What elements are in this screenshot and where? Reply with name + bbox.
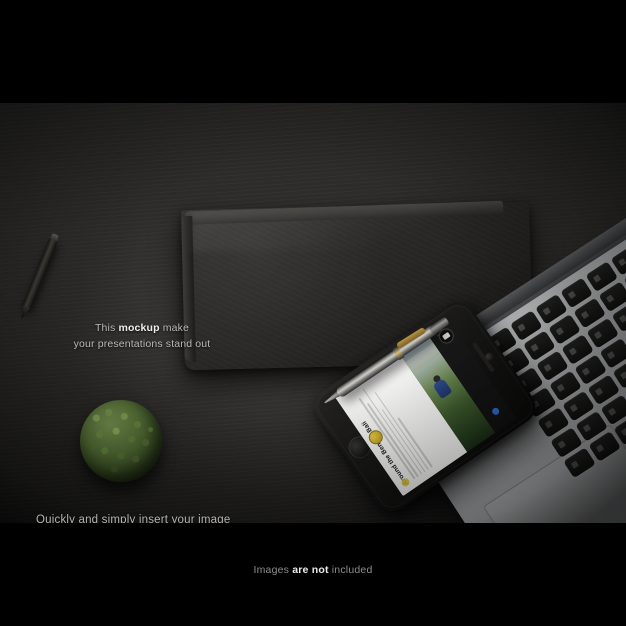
mockup-canvas: Around the Bend in Bali xyxy=(0,0,626,626)
footer-post: included xyxy=(329,564,373,576)
caption-line1-post: make xyxy=(160,322,189,334)
topiary-plant xyxy=(80,400,162,482)
subtitle: Quickly and simply insert your image xyxy=(36,514,230,523)
stylus-body xyxy=(22,238,58,310)
letterbox-top xyxy=(0,0,626,103)
plant-foliage xyxy=(80,400,162,482)
caption-line1-pre: This xyxy=(95,322,119,334)
footer-disclaimer: Images are not included xyxy=(0,564,626,576)
caption-line2: your presentations stand out xyxy=(52,336,232,352)
stylus-tip xyxy=(18,305,30,321)
notebook-highlight xyxy=(191,205,492,252)
plant-leaf-detail xyxy=(80,400,162,482)
desk-photo: Around the Bend in Bali xyxy=(0,103,626,523)
caption-line1-strong: mockup xyxy=(119,322,160,334)
footer-pre: Images xyxy=(253,564,292,576)
footer-strong: are not xyxy=(292,564,328,576)
stylus-pencil xyxy=(17,233,60,322)
app-action-dot-icon[interactable] xyxy=(491,406,501,416)
mockup-caption: This mockup make your presentations stan… xyxy=(52,320,232,353)
